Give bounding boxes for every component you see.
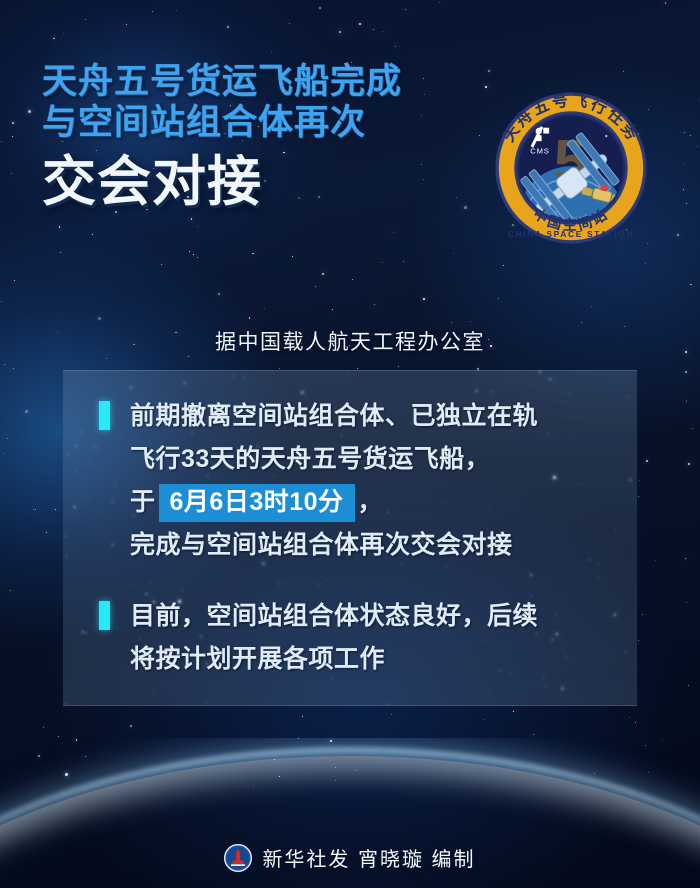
title-line-1: 天舟五号货运飞船完成 xyxy=(42,62,492,103)
credit-text: 新华社发 宵晓璇 编制 xyxy=(262,843,475,872)
bullet-text-run: 完成与空间站组合体再次交会对接 xyxy=(130,531,513,559)
bullet-line: 飞行33天的天舟五号货运飞船， xyxy=(130,438,538,481)
content-panel: 前期撤离空间站组合体、已独立在轨飞行33天的天舟五号货运飞船，于6月6日3时10… xyxy=(63,370,637,706)
highlighted-datetime: 6月6日3时10分 xyxy=(159,484,355,522)
bullet-marker-icon xyxy=(99,401,110,430)
title-line-2: 与空间站组合体再次 xyxy=(42,103,492,144)
bullet-text-run: 飞行33天的天舟五号货运飞船， xyxy=(130,445,490,473)
bullet-line: 目前，空间站组合体状态良好，后续 xyxy=(130,595,538,638)
bullet-item-1: 前期撤离空间站组合体、已独立在轨飞行33天的天舟五号货运飞船，于6月6日3时10… xyxy=(99,395,538,567)
title-line-3: 交会对接 xyxy=(42,151,492,214)
bullet-marker-icon xyxy=(99,601,110,630)
bullet-line: 前期撤离空间站组合体、已独立在轨 xyxy=(130,395,538,438)
bullet-text-run: ， xyxy=(358,488,384,516)
svg-text:CMS: CMS xyxy=(530,147,549,156)
bullet-text-2: 目前，空间站组合体状态良好，后续将按计划开展各项工作 xyxy=(130,595,538,681)
emblem-bottom-arc-label-en: CHINA SPACE STATION xyxy=(508,229,635,239)
footer-credit: 新华社发 宵晓璇 编制 xyxy=(0,843,700,872)
source-attribution: 据中国载人航天工程办公室 xyxy=(0,326,700,356)
bullet-line: 将按计划开展各项工作 xyxy=(130,638,538,681)
bullet-line: 完成与空间站组合体再次交会对接 xyxy=(130,524,538,567)
bullet-text-run: 前期撤离空间站组合体、已独立在轨 xyxy=(130,402,538,430)
bullet-text-1: 前期撤离空间站组合体、已独立在轨飞行33天的天舟五号货运飞船，于6月6日3时10… xyxy=(130,395,538,567)
bullet-item-2: 目前，空间站组合体状态良好，后续将按计划开展各项工作 xyxy=(99,595,538,681)
infographic-poster: 天舟五号货运飞船完成 与空间站组合体再次 交会对接 5 xyxy=(0,0,700,888)
bullet-line: 于6月6日3时10分， xyxy=(130,481,538,524)
bullet-text-run: 目前，空间站组合体状态良好，后续 xyxy=(130,602,538,630)
mission-emblem-icon: 5 xyxy=(487,62,655,274)
bullet-text-run: 于 xyxy=(130,488,156,516)
bullet-text-run: 将按计划开展各项工作 xyxy=(130,645,385,673)
xinhua-logo-icon xyxy=(224,844,252,872)
page-title: 天舟五号货运飞船完成 与空间站组合体再次 交会对接 xyxy=(42,62,492,214)
